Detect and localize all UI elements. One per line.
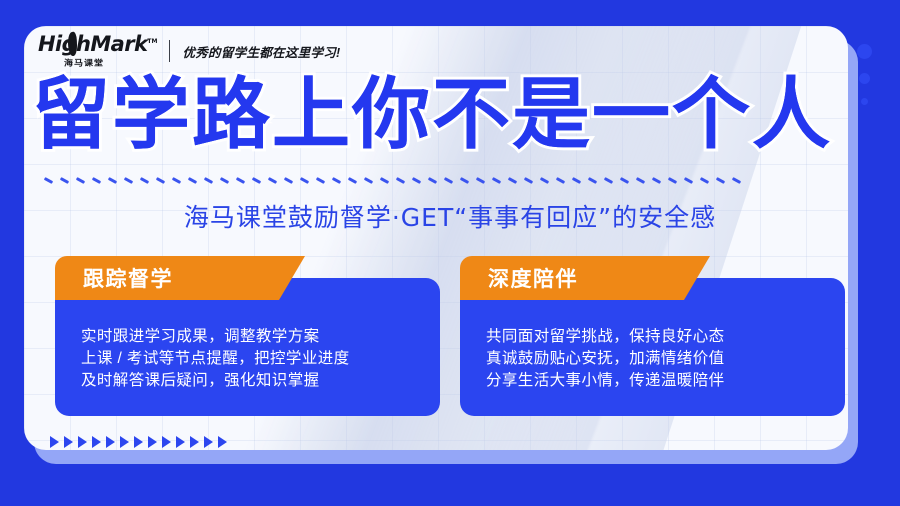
card-line: 分享生活大事小情，传递温暖陪伴 — [486, 370, 831, 392]
brand-tagline: 优秀的留学生都在这里学习! — [182, 42, 340, 61]
slant-dash — [636, 177, 645, 184]
slant-dash — [268, 177, 277, 184]
card-line: 及时解答课后疑问，强化知识掌握 — [81, 370, 426, 392]
slant-dash — [76, 177, 85, 184]
card-lines: 共同面对留学挑战，保持良好心态 真诚鼓励贴心安抚，加满情绪价值 分享生活大事小情… — [486, 326, 831, 392]
header-divider — [169, 40, 170, 62]
headline-title: 留学路上你不是一个人 — [32, 76, 832, 154]
slant-dash — [716, 177, 725, 184]
slant-dash — [556, 177, 565, 184]
slant-dash — [524, 177, 533, 184]
card-lines: 实时跟进学习成果，调整教学方案 上课 / 考试等节点提醒，把控学业进度 及时解答… — [81, 326, 426, 392]
triangle-right-icon — [64, 436, 73, 448]
slant-dash — [604, 177, 613, 184]
arrow-strip — [50, 436, 227, 448]
slant-dash — [620, 177, 629, 184]
slant-dash — [492, 177, 501, 184]
slant-dash — [252, 177, 261, 184]
slant-dash — [220, 177, 229, 184]
seahorse-icon — [68, 31, 78, 56]
slant-dash — [572, 177, 581, 184]
triangle-right-icon — [176, 436, 185, 448]
slant-dash — [684, 177, 693, 184]
slant-dash — [44, 177, 53, 184]
triangle-right-icon — [162, 436, 171, 448]
brand-header: HighMarkTM 海马课堂 优秀的留学生都在这里学习! — [38, 34, 341, 68]
card-line: 共同面对留学挑战，保持良好心态 — [486, 326, 831, 348]
triangle-right-icon — [92, 436, 101, 448]
slant-dash — [412, 177, 421, 184]
slant-dash — [428, 177, 437, 184]
slant-dash — [508, 177, 517, 184]
card-tracking: 跟踪督学 实时跟进学习成果，调整教学方案 上课 / 考试等节点提醒，把控学业进度… — [55, 256, 440, 416]
slant-dash — [92, 177, 101, 184]
slant-dash — [348, 177, 357, 184]
slant-dash — [236, 177, 245, 184]
logo-wordmark-text: HighMark — [38, 32, 147, 56]
slant-dash — [364, 177, 373, 184]
slant-dash — [700, 177, 709, 184]
card-line: 实时跟进学习成果，调整教学方案 — [81, 326, 426, 348]
feature-cards: 跟踪督学 实时跟进学习成果，调整教学方案 上课 / 考试等节点提醒，把控学业进度… — [55, 256, 845, 416]
slant-dash — [652, 177, 661, 184]
slant-dash — [204, 177, 213, 184]
circle-icon — [861, 98, 868, 105]
logo-subtext: 海马课堂 — [64, 56, 104, 68]
slant-dash — [108, 177, 117, 184]
slant-dash — [460, 177, 469, 184]
slant-dash — [396, 177, 405, 184]
slant-dash — [124, 177, 133, 184]
slant-dash — [668, 177, 677, 184]
highmark-logo: HighMarkTM 海马课堂 — [38, 34, 157, 69]
card-companionship: 深度陪伴 共同面对留学挑战，保持良好心态 真诚鼓励贴心安抚，加满情绪价值 分享生… — [460, 256, 845, 416]
triangle-right-icon — [120, 436, 129, 448]
slant-dash — [140, 177, 149, 184]
slant-dash — [732, 177, 741, 184]
slant-dash — [188, 177, 197, 184]
slant-dash — [60, 177, 69, 184]
triangle-right-icon — [190, 436, 199, 448]
slant-divider — [44, 172, 834, 188]
slant-dash — [380, 177, 389, 184]
dot-cluster — [857, 44, 872, 105]
card-tab: 深度陪伴 — [460, 256, 710, 300]
circle-icon — [857, 44, 872, 59]
triangle-right-icon — [106, 436, 115, 448]
triangle-right-icon — [218, 436, 227, 448]
card-tab-label: 跟踪督学 — [83, 263, 173, 293]
slant-dash — [172, 177, 181, 184]
triangle-right-icon — [148, 436, 157, 448]
logo-trademark: TM — [147, 38, 157, 45]
triangle-right-icon — [50, 436, 59, 448]
slant-dash — [316, 177, 325, 184]
card-tab: 跟踪督学 — [55, 256, 305, 300]
triangle-right-icon — [134, 436, 143, 448]
card-line: 上课 / 考试等节点提醒，把控学业进度 — [81, 348, 426, 370]
triangle-right-icon — [78, 436, 87, 448]
subtitle: 海马课堂鼓励督学·GET“事事有回应”的安全感 — [0, 198, 900, 234]
slant-dash — [476, 177, 485, 184]
card-line: 真诚鼓励贴心安抚，加满情绪价值 — [486, 348, 831, 370]
slant-dash — [588, 177, 597, 184]
triangle-right-icon — [204, 436, 213, 448]
slant-dash — [284, 177, 293, 184]
logo-wordmark: HighMarkTM — [38, 34, 157, 55]
card-tab-label: 深度陪伴 — [488, 263, 578, 293]
slant-dash — [444, 177, 453, 184]
circle-icon — [859, 73, 870, 84]
slant-dash — [332, 177, 341, 184]
slant-dash — [540, 177, 549, 184]
slant-dash — [300, 177, 309, 184]
slant-dash — [156, 177, 165, 184]
poster-root: HighMarkTM 海马课堂 优秀的留学生都在这里学习! 留学路上你不是一个人… — [0, 0, 900, 506]
